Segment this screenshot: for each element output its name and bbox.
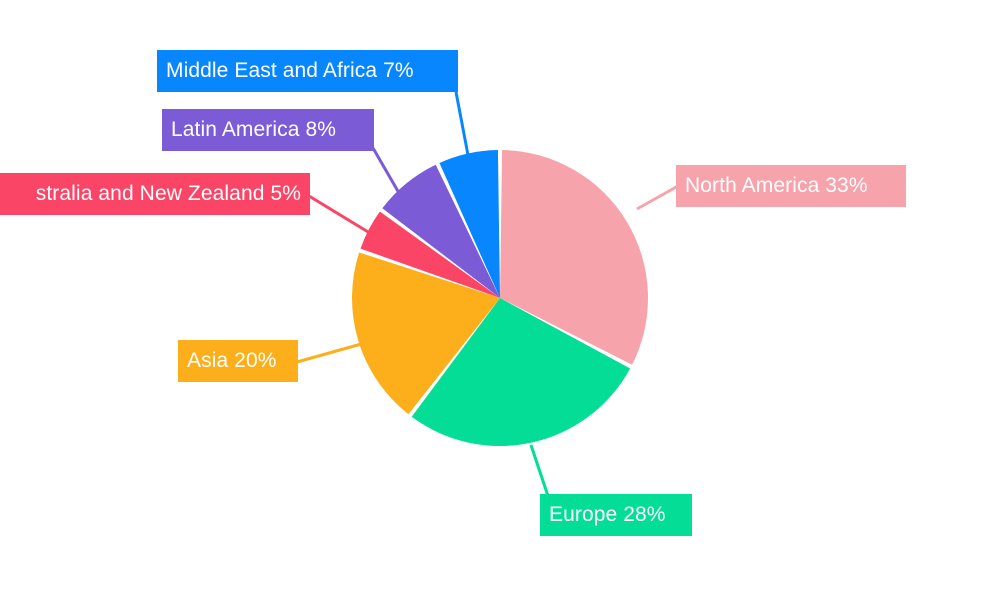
slice-label-europe[interactable]: Europe 28% (540, 494, 692, 536)
slice-label-text: North America 33% (685, 165, 868, 207)
slice-label-text: stralia and New Zealand 5% (36, 173, 301, 215)
leader-line-middle-east-and-africa (456, 92, 468, 155)
leader-line-australia-and-new-zealand (309, 196, 378, 238)
leader-line-europe (531, 445, 548, 496)
slice-label-text: Latin America 8% (171, 109, 336, 151)
leader-line-north-america (637, 186, 678, 209)
slice-label-text: Asia 20% (187, 340, 277, 382)
slice-label-asia[interactable]: Asia 20% (178, 340, 298, 382)
slice-label-text: Middle East and Africa 7% (166, 50, 414, 92)
slice-label-middle-east-and-africa[interactable]: Middle East and Africa 7% (157, 50, 458, 92)
slice-label-text: Europe 28% (549, 494, 666, 536)
pie-chart-figure: North America 33%Europe 28%Asia 20%stral… (0, 0, 1000, 600)
pie-slice-group (352, 150, 648, 446)
pie-chart-svg (0, 0, 1000, 600)
slice-label-latin-america[interactable]: Latin America 8% (162, 109, 374, 151)
slice-label-north-america[interactable]: North America 33% (676, 165, 906, 207)
slice-label-australia-and-new-zealand[interactable]: stralia and New Zealand 5% (0, 173, 310, 215)
